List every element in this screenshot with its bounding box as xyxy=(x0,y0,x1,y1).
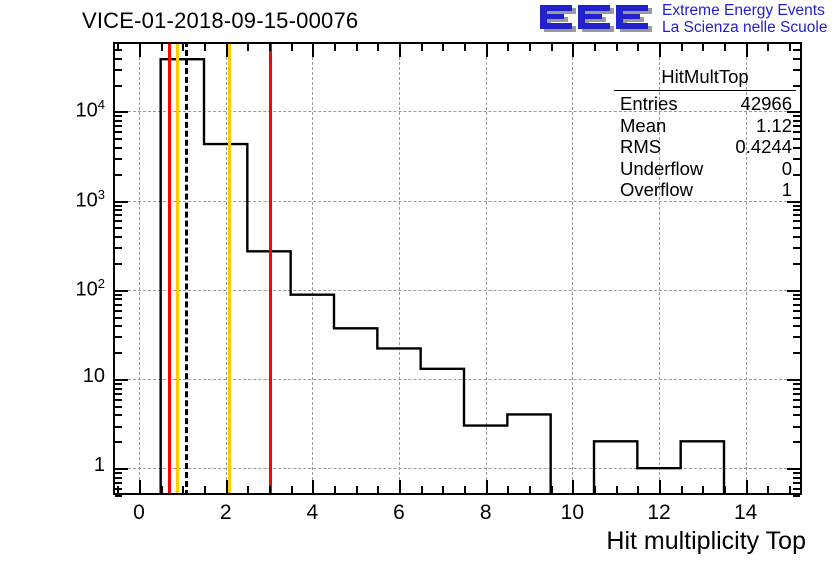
y-minor-tick xyxy=(115,336,122,338)
x-minor-tick-top xyxy=(507,44,509,51)
x-minor-tick-top xyxy=(117,44,119,51)
x-minor-tick xyxy=(637,486,639,493)
x-minor-tick-top xyxy=(247,44,249,51)
y-minor-tick xyxy=(115,247,122,249)
x-minor-tick xyxy=(681,486,683,493)
x-minor-tick-top xyxy=(551,44,553,51)
y-major-tick xyxy=(115,379,128,381)
y-minor-tick-right xyxy=(793,214,800,216)
y-axis-label: 10 xyxy=(83,365,105,388)
stats-row-value: 0 xyxy=(782,158,792,180)
x-minor-tick xyxy=(442,486,444,493)
x-major-tick xyxy=(312,480,314,493)
stats-row-label: Mean xyxy=(620,115,666,137)
y-minor-tick xyxy=(115,227,122,229)
y-minor-tick xyxy=(115,383,122,385)
stats-row-label: Underflow xyxy=(620,158,703,180)
y-minor-tick xyxy=(115,399,122,401)
y-minor-tick xyxy=(115,85,122,87)
x-minor-tick xyxy=(767,486,769,493)
x-axis-label: 2 xyxy=(196,501,256,525)
y-minor-tick-right xyxy=(793,42,800,44)
y-minor-tick xyxy=(115,441,122,443)
x-minor-tick xyxy=(616,486,618,493)
x-minor-tick xyxy=(421,486,423,493)
x-minor-tick-top xyxy=(442,44,444,51)
y-minor-tick xyxy=(115,352,122,354)
stats-box: HitMultTop Entries42966Mean1.12RMS0.4244… xyxy=(614,66,796,201)
stats-row-label: RMS xyxy=(620,136,661,158)
x-minor-tick-top xyxy=(161,44,163,51)
y-axis-label: 1 xyxy=(94,454,105,477)
y-minor-tick xyxy=(115,214,122,216)
y-minor-tick xyxy=(115,325,122,327)
y-minor-tick xyxy=(115,310,122,312)
stats-row: Overflow1 xyxy=(614,179,796,201)
y-minor-tick-right xyxy=(793,220,800,222)
y-minor-tick-right xyxy=(793,298,800,300)
x-major-tick-top xyxy=(139,44,141,57)
x-axis-label: 12 xyxy=(629,501,689,525)
y-major-tick xyxy=(115,468,128,470)
x-major-tick-top xyxy=(659,44,661,57)
x-minor-tick xyxy=(247,486,249,493)
x-minor-tick xyxy=(551,486,553,493)
y-minor-tick xyxy=(115,472,122,474)
x-minor-tick xyxy=(182,486,184,493)
y-minor-tick xyxy=(115,388,122,390)
stats-row: Mean1.12 xyxy=(614,115,796,137)
x-minor-tick xyxy=(377,486,379,493)
y-minor-tick-right xyxy=(793,472,800,474)
x-minor-tick-top xyxy=(594,44,596,51)
y-minor-tick-right xyxy=(793,399,800,401)
y-minor-tick-right xyxy=(793,263,800,265)
x-minor-tick-top xyxy=(529,44,531,51)
y-minor-tick-right xyxy=(793,58,800,60)
x-major-tick xyxy=(572,480,574,493)
x-major-tick-top xyxy=(746,44,748,57)
x-axis-label: 0 xyxy=(109,501,169,525)
logo-line-2: La Scienza nelle Scuole xyxy=(662,19,827,36)
y-minor-tick xyxy=(115,263,122,265)
x-minor-tick xyxy=(529,486,531,493)
x-minor-tick xyxy=(204,486,206,493)
y-minor-tick-right xyxy=(793,388,800,390)
y-minor-tick xyxy=(115,294,122,296)
y-minor-tick xyxy=(115,304,122,306)
y-minor-tick-right xyxy=(793,383,800,385)
y-minor-tick xyxy=(115,220,122,222)
x-minor-tick-top xyxy=(702,44,704,51)
x-minor-tick xyxy=(334,486,336,493)
y-major-tick xyxy=(115,290,128,292)
y-minor-tick xyxy=(115,393,122,395)
y-minor-tick-right xyxy=(793,406,800,408)
page-title: VICE-01-2018-09-15-00076 xyxy=(82,8,358,34)
x-minor-tick-top xyxy=(464,44,466,51)
stats-row-label: Overflow xyxy=(620,179,693,201)
x-minor-tick-top xyxy=(421,44,423,51)
x-minor-tick-top xyxy=(291,44,293,51)
y-minor-tick xyxy=(115,426,122,428)
x-minor-tick-top xyxy=(724,44,726,51)
y-major-tick-right xyxy=(787,290,800,292)
stats-rows: Entries42966Mean1.12RMS0.4244Underflow0O… xyxy=(614,93,796,201)
y-minor-tick-right xyxy=(793,325,800,327)
y-major-tick-right xyxy=(787,468,800,470)
y-minor-tick-right xyxy=(793,209,800,211)
x-major-tick xyxy=(659,480,661,493)
logo-line-1: Extreme Energy Events xyxy=(662,2,827,19)
x-minor-tick-top xyxy=(789,44,791,51)
stats-row-value: 0.4244 xyxy=(735,136,792,158)
x-major-tick xyxy=(486,480,488,493)
eee-logo-mark xyxy=(538,3,656,37)
y-minor-tick xyxy=(115,58,122,60)
x-minor-tick xyxy=(161,486,163,493)
y-minor-tick xyxy=(115,147,122,149)
y-minor-tick-right xyxy=(793,205,800,207)
stats-title: HitMultTop xyxy=(614,66,796,90)
x-minor-tick xyxy=(291,486,293,493)
y-minor-tick xyxy=(115,158,122,160)
y-minor-tick-right xyxy=(793,482,800,484)
y-minor-tick-right xyxy=(793,477,800,479)
y-minor-tick xyxy=(115,138,122,140)
y-axis-label: 104 xyxy=(76,97,105,123)
x-minor-tick-top xyxy=(767,44,769,51)
x-major-tick xyxy=(399,480,401,493)
y-minor-tick-right xyxy=(793,304,800,306)
stats-row-value: 1 xyxy=(782,179,792,201)
stats-divider xyxy=(614,90,796,91)
y-minor-tick-right xyxy=(793,441,800,443)
y-minor-tick xyxy=(115,115,122,117)
x-minor-tick xyxy=(702,486,704,493)
y-minor-tick xyxy=(115,236,122,238)
x-minor-tick xyxy=(356,486,358,493)
y-major-tick xyxy=(115,201,128,203)
y-major-tick-right xyxy=(787,201,800,203)
x-minor-tick-top xyxy=(637,44,639,51)
x-minor-tick xyxy=(507,486,509,493)
x-major-tick xyxy=(139,480,141,493)
y-minor-tick xyxy=(115,120,122,122)
y-minor-tick xyxy=(115,414,122,416)
x-major-tick-top xyxy=(572,44,574,57)
y-minor-tick-right xyxy=(793,236,800,238)
y-minor-tick-right xyxy=(793,488,800,490)
y-axis-label: 103 xyxy=(76,187,105,213)
y-minor-tick-right xyxy=(793,294,800,296)
x-major-tick xyxy=(746,480,748,493)
y-major-tick xyxy=(115,111,128,113)
x-minor-tick xyxy=(464,486,466,493)
x-minor-tick xyxy=(594,486,596,493)
y-minor-tick-right xyxy=(793,336,800,338)
y-minor-tick-right xyxy=(793,310,800,312)
x-minor-tick xyxy=(724,486,726,493)
x-minor-tick-top xyxy=(377,44,379,51)
y-minor-tick-right xyxy=(793,426,800,428)
x-axis-label: 8 xyxy=(456,501,516,525)
y-minor-tick-right xyxy=(793,317,800,319)
x-minor-tick-top xyxy=(616,44,618,51)
y-minor-tick xyxy=(115,209,122,211)
x-major-tick-top xyxy=(312,44,314,57)
stats-row: Underflow0 xyxy=(614,158,796,180)
root-canvas: VICE-01-2018-09-15-00076 Extreme Energy … xyxy=(0,0,836,572)
x-minor-tick-top xyxy=(182,44,184,51)
y-minor-tick xyxy=(115,205,122,207)
stats-row-value: 42966 xyxy=(741,93,792,115)
y-minor-tick xyxy=(115,174,122,176)
y-axis-label: 102 xyxy=(76,276,105,302)
x-minor-tick xyxy=(789,486,791,493)
x-minor-tick-top xyxy=(334,44,336,51)
x-axis-label: 10 xyxy=(542,501,602,525)
x-minor-tick xyxy=(269,486,271,493)
x-major-tick xyxy=(226,480,228,493)
y-minor-tick-right xyxy=(793,495,800,497)
y-minor-tick xyxy=(115,131,122,133)
y-major-tick-right xyxy=(787,379,800,381)
x-minor-tick xyxy=(117,486,119,493)
y-minor-tick xyxy=(115,317,122,319)
eee-logo: Extreme Energy Events La Scienza nelle S… xyxy=(538,2,832,42)
y-minor-tick-right xyxy=(793,227,800,229)
y-minor-tick xyxy=(115,406,122,408)
y-minor-tick xyxy=(115,495,122,497)
x-major-tick-top xyxy=(226,44,228,57)
x-minor-tick-top xyxy=(269,44,271,51)
y-minor-tick xyxy=(115,69,122,71)
x-major-tick-top xyxy=(399,44,401,57)
y-minor-tick xyxy=(115,477,122,479)
x-minor-tick-top xyxy=(356,44,358,51)
x-axis-label: 14 xyxy=(716,501,776,525)
y-minor-tick xyxy=(115,482,122,484)
x-axis-label: 6 xyxy=(369,501,429,525)
y-minor-tick-right xyxy=(793,352,800,354)
stats-row: RMS0.4244 xyxy=(614,136,796,158)
y-minor-tick-right xyxy=(793,393,800,395)
eee-logo-text: Extreme Energy Events La Scienza nelle S… xyxy=(662,2,827,36)
x-minor-tick-top xyxy=(681,44,683,51)
stats-row-value: 1.12 xyxy=(756,115,792,137)
y-minor-tick xyxy=(115,125,122,127)
stats-row: Entries42966 xyxy=(614,93,796,115)
y-minor-tick xyxy=(115,298,122,300)
stats-row-label: Entries xyxy=(620,93,678,115)
x-axis-label: 4 xyxy=(282,501,342,525)
y-minor-tick-right xyxy=(793,414,800,416)
x-major-tick-top xyxy=(486,44,488,57)
x-minor-tick-top xyxy=(204,44,206,51)
x-axis-title: Hit multiplicity Top xyxy=(606,527,806,556)
y-minor-tick-right xyxy=(793,49,800,51)
y-minor-tick-right xyxy=(793,247,800,249)
